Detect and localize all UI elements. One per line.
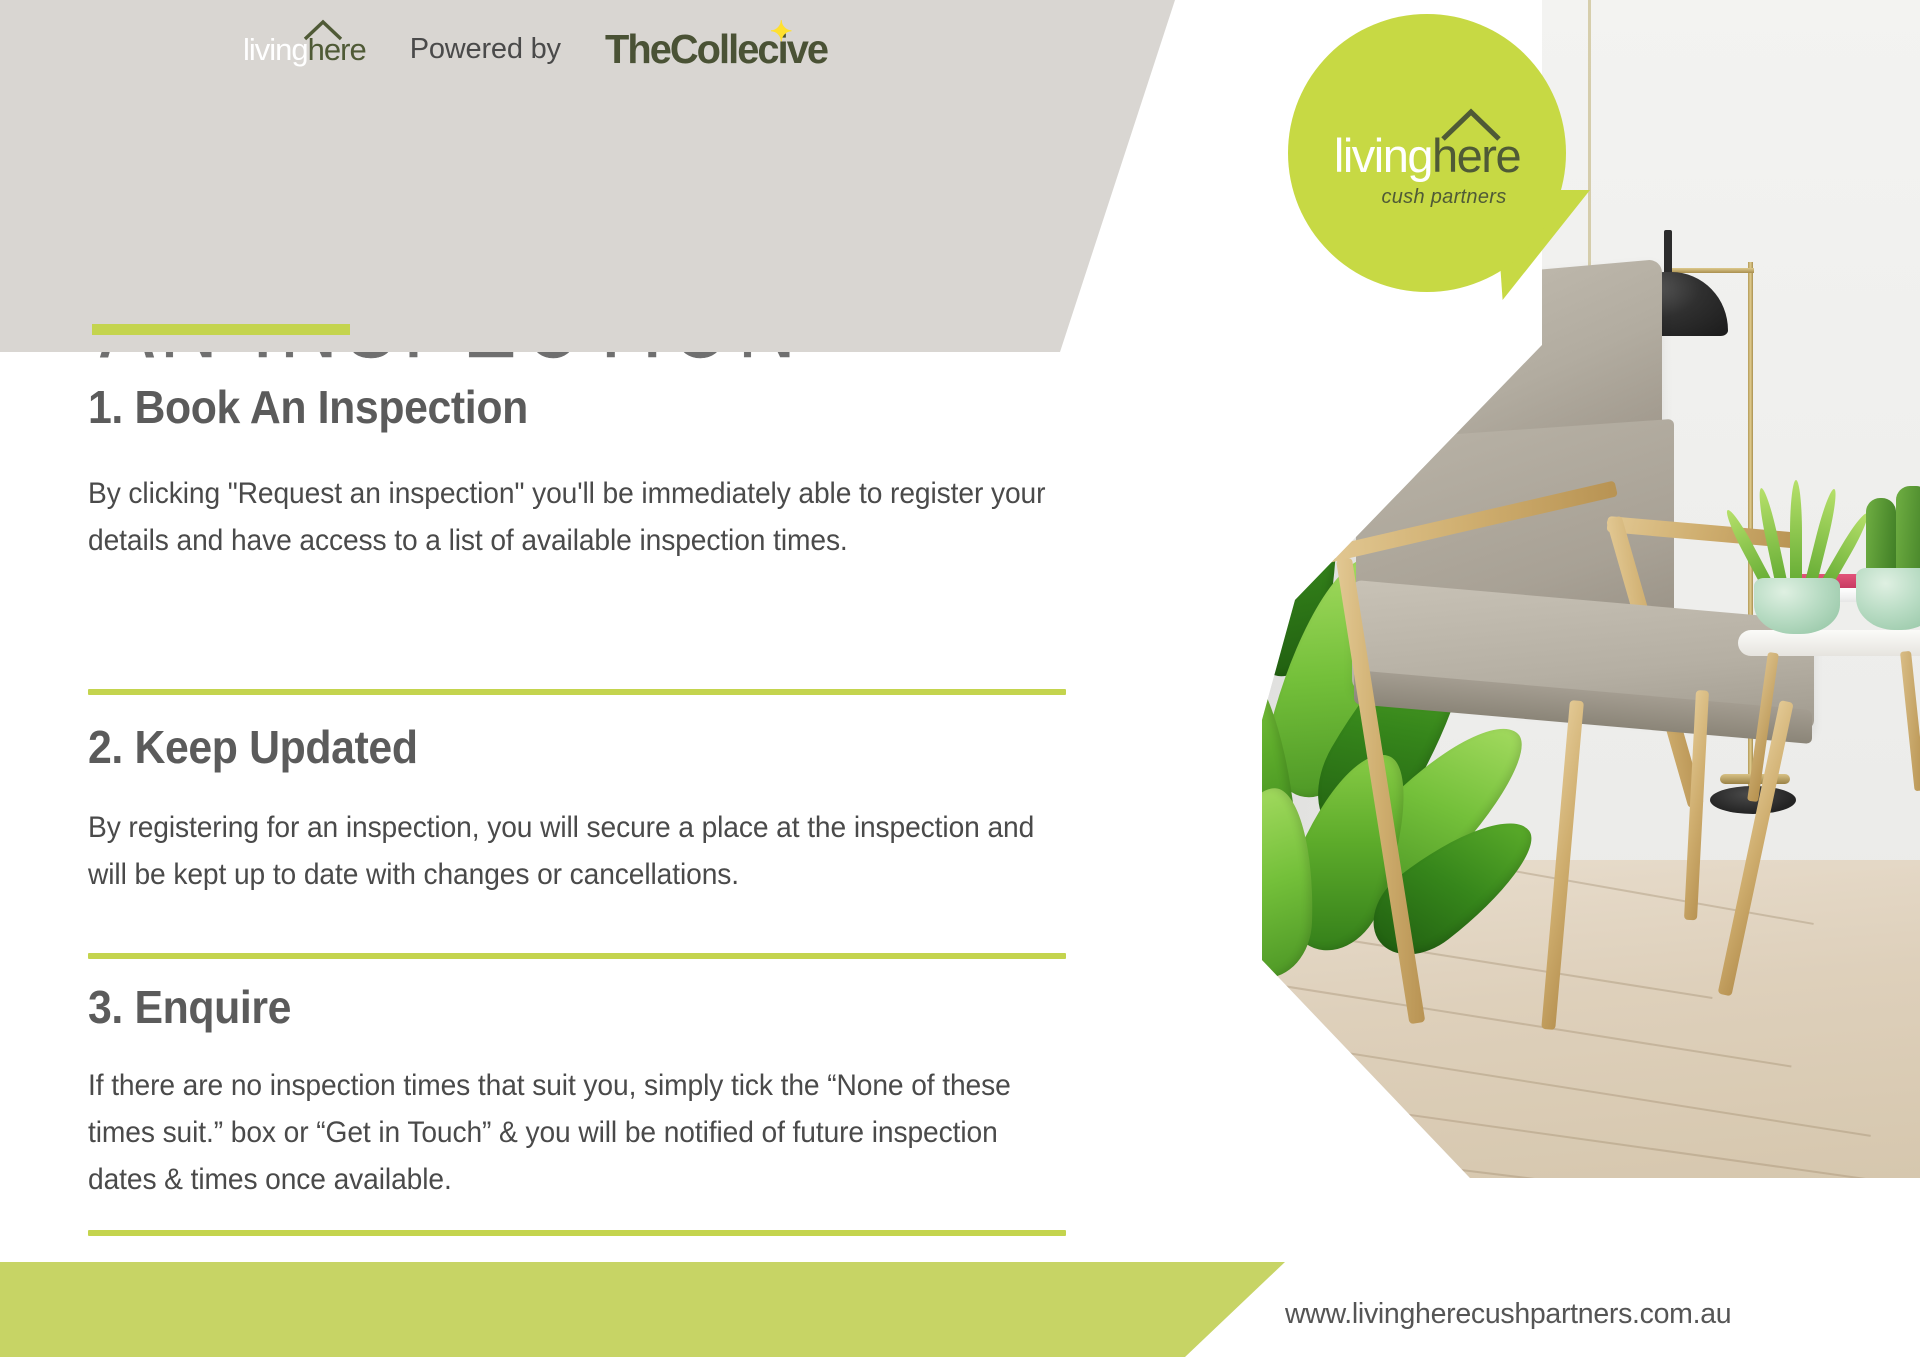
step-3-divider — [88, 1230, 1066, 1236]
powered-by-label: Powered by — [410, 33, 561, 66]
step-3: 3. Enquire If there are no inspection ti… — [88, 980, 1098, 1203]
house-roof-icon — [303, 19, 343, 41]
step-1-divider — [88, 689, 1066, 695]
star-icon: ✦ — [770, 18, 791, 46]
footer-bar — [0, 1262, 1285, 1357]
logo-tagline: cush partners — [1288, 186, 1566, 209]
step-1: 1. Book An Inspection By clicking "Reque… — [88, 380, 1066, 564]
logo-wordmark: livinghere — [1288, 132, 1566, 179]
step-2-divider — [88, 953, 1066, 959]
step-3-title: 3. Enquire — [88, 980, 1027, 1034]
step-1-body: By clicking "Request an inspection" you'… — [88, 470, 1081, 564]
brand-logo[interactable]: livinghere cush partners — [1288, 14, 1566, 292]
step-2-title: 2. Keep Updated — [88, 720, 1018, 774]
logo-word-living: living — [1334, 129, 1432, 182]
title-accent-bar — [92, 324, 350, 335]
step-2: 2. Keep Updated By registering for an in… — [88, 720, 1088, 898]
footer-branding: livinghere Powered by TheCollecive ✦ — [243, 26, 834, 73]
photo-floor — [1140, 860, 1920, 1178]
step-1-title: 1. Book An Inspection — [88, 380, 998, 434]
footer-logo-living: living — [243, 32, 308, 67]
website-url[interactable]: www.livingherecushpartners.com.au — [1285, 1298, 1731, 1331]
collective-text-part1: TheCollec — [605, 26, 778, 72]
footer-livinghere-logo[interactable]: livinghere — [243, 34, 366, 65]
step-3-body: If there are no inspection times that su… — [88, 1062, 1043, 1203]
house-roof-icon — [1440, 108, 1502, 142]
the-collective-logo[interactable]: TheCollecive ✦ — [605, 26, 827, 73]
step-2-body: By registering for an inspection, you wi… — [88, 804, 1043, 898]
